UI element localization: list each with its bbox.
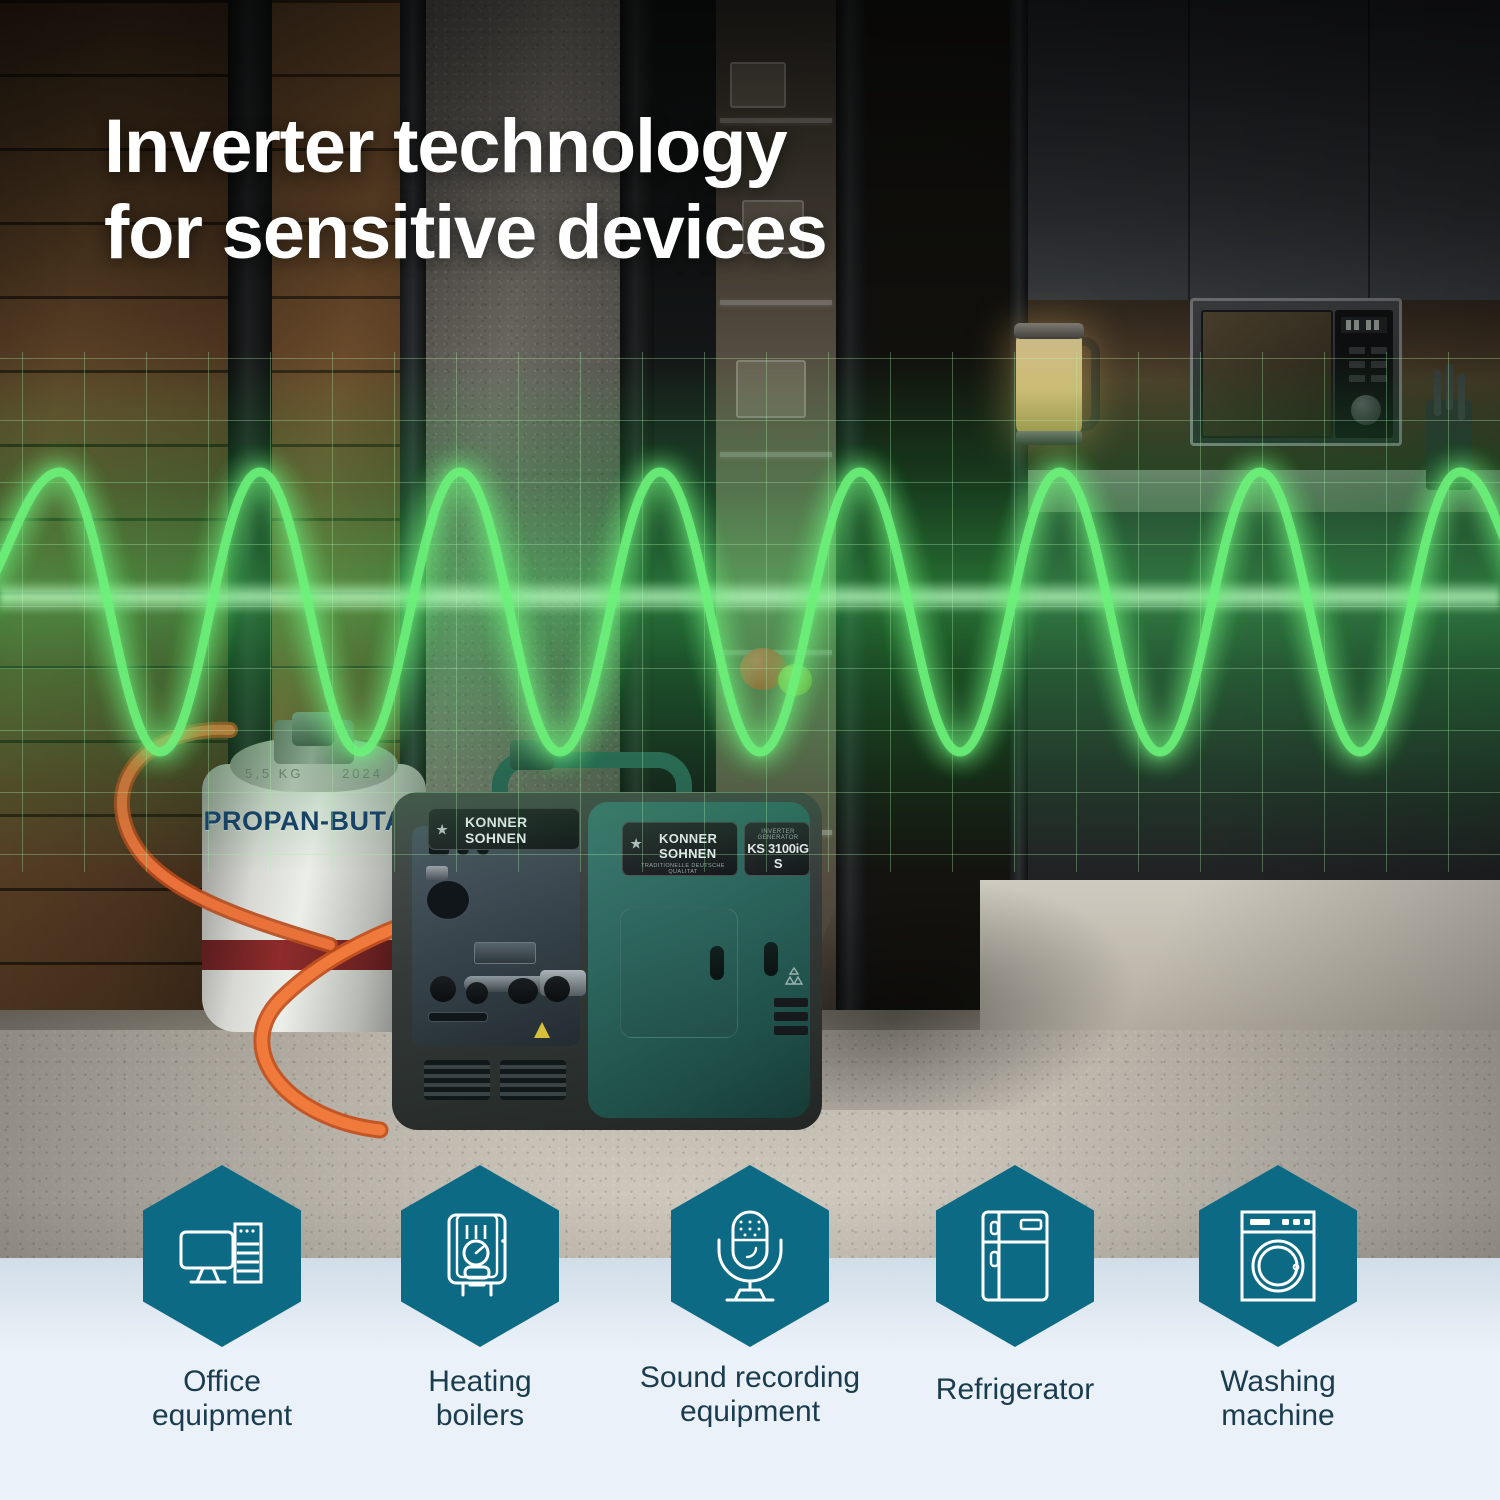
label-line-1: Refrigerator	[936, 1373, 1094, 1406]
product-marketing-banner: 5,5 KG 2024 PROPAN-BUTAN	[0, 0, 1500, 1500]
boiler-icon	[443, 1213, 517, 1299]
control-panel	[412, 826, 580, 1046]
generator-type-caption: INVERTER GENERATOR	[745, 829, 811, 841]
refrigerator-icon	[977, 1210, 1053, 1302]
lcd-display	[474, 942, 536, 964]
label-line-1: Washing	[1220, 1365, 1336, 1398]
page-title: Inverter technology for sensitive device…	[104, 104, 1104, 276]
feature-label-boilers: Heating boilers	[355, 1365, 605, 1432]
label-line-1: Heating	[428, 1365, 531, 1398]
feature-label-sound: Sound recording equipment	[610, 1361, 890, 1428]
warning-triangle-icon	[534, 1022, 550, 1038]
brand-name-shell-line1: KONNER	[659, 831, 717, 846]
konner-sohnen-logo-icon: ⭑	[437, 817, 461, 843]
brand-tagline: TRADITIONELLE DEUTSCHE QUALITAT	[631, 863, 735, 875]
brand-badge-shell: ⭑ KONNER SOHNEN TRADITIONELLE DEUTSCHE Q…	[622, 822, 738, 876]
label-line-2: machine	[1221, 1399, 1334, 1432]
brand-name-line2: SOHNEN	[465, 830, 527, 846]
headline-line-1: Inverter technology	[104, 104, 786, 189]
brand-name-shell-line2: SOHNEN	[659, 846, 716, 861]
washing-machine-icon	[1238, 1210, 1318, 1302]
headline-line-2: for sensitive devices	[104, 190, 1104, 276]
label-line-1: Sound recording	[640, 1361, 860, 1394]
brand-badge-frame: ⭑ KONNER SOHNEN	[428, 808, 580, 850]
desktop-computer-icon	[179, 1220, 265, 1292]
feature-label-office: Office equipment	[97, 1365, 347, 1432]
model-number: KS 3100iG S	[745, 841, 811, 871]
feature-label-washing: Washing machine	[1153, 1365, 1403, 1432]
konner-sohnen-logo-icon-2: ⭑	[631, 831, 655, 857]
microphone-icon	[711, 1210, 789, 1302]
model-badge: INVERTER GENERATOR KS 3100iG S	[744, 822, 810, 876]
inverter-generator: ⭑ KONNER SOHNEN ⭑ KONNER SOHNEN TRADITIO…	[392, 730, 822, 1130]
label-line-2: equipment	[152, 1399, 292, 1432]
fuel-cap	[510, 740, 554, 770]
label-line-2: boilers	[436, 1399, 524, 1432]
brand-name-line1: KONNER	[465, 814, 527, 830]
feature-label-refrigerator: Refrigerator	[890, 1373, 1140, 1407]
recycle-icon	[780, 966, 808, 992]
label-line-1: Office	[183, 1365, 261, 1398]
label-line-2: equipment	[680, 1395, 820, 1428]
